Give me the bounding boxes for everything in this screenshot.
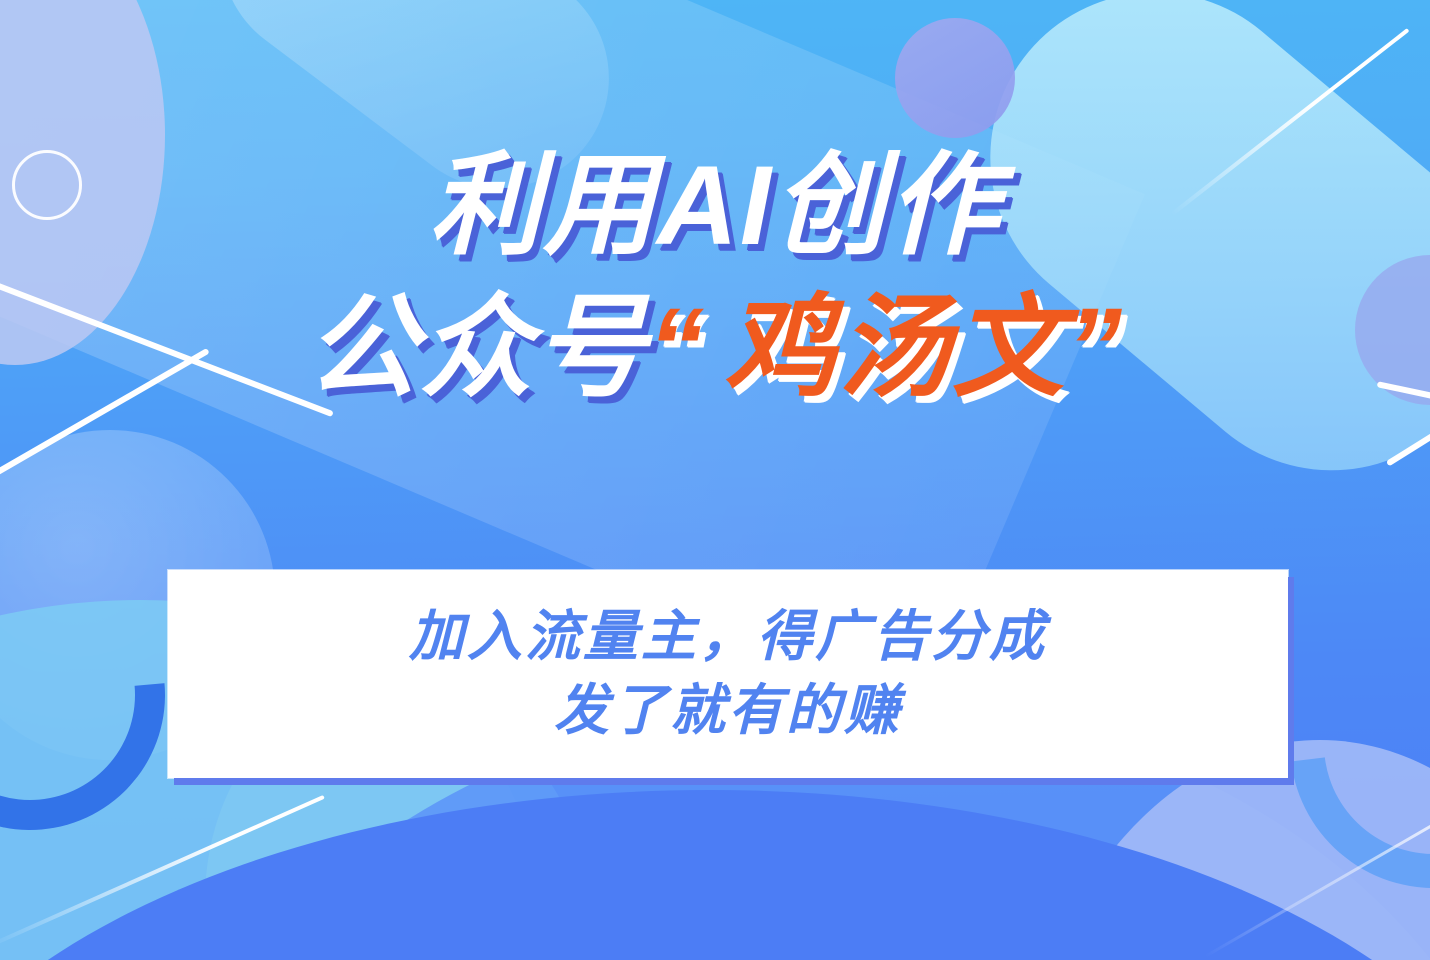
purple-circle-shape bbox=[895, 18, 1015, 138]
subtitle-panel: 加入流量主，得广告分成 发了就有的赚 bbox=[168, 570, 1288, 778]
headline-line-2: 公众号“鸡汤文” bbox=[0, 290, 1430, 406]
poster-canvas: 利用AI创作 公众号“鸡汤文” 加入流量主，得广告分成 发了就有的赚 bbox=[0, 0, 1430, 960]
open-quote-mark: “ bbox=[648, 285, 706, 410]
subtitle-line-2: 发了就有的赚 bbox=[554, 674, 902, 748]
headline-block: 利用AI创作 公众号“鸡汤文” bbox=[0, 148, 1430, 407]
headline-line-1: 利用AI创作 bbox=[0, 148, 1430, 264]
headline-highlight-text: 鸡汤文 bbox=[724, 285, 1066, 410]
headline-prefix-text: 公众号 bbox=[306, 285, 648, 410]
subtitle-line-1: 加入流量主，得广告分成 bbox=[409, 600, 1047, 674]
close-quote-mark: ” bbox=[1066, 285, 1124, 410]
